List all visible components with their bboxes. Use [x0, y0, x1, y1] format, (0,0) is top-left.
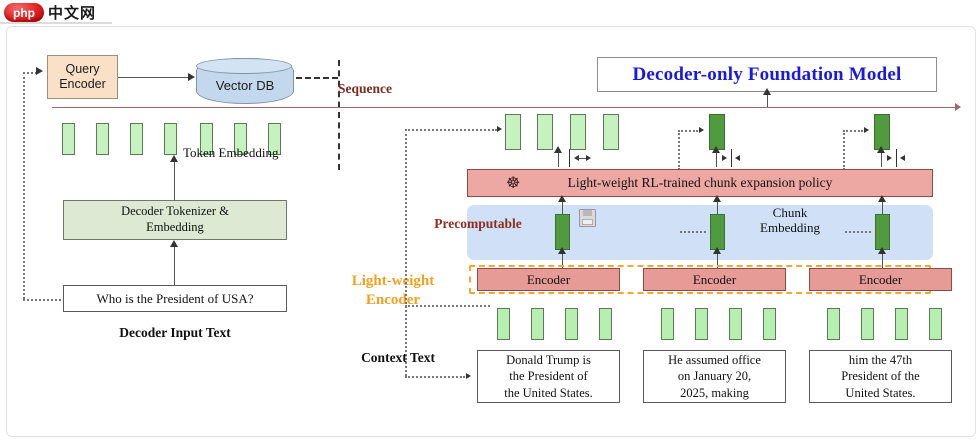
vectordb-trunk-dash-vertical — [338, 60, 340, 170]
chunk-feed-dotted-3 — [843, 130, 845, 170]
decoder-input-caption: Decoder Input Text — [63, 325, 287, 341]
chunk-embedding-block — [875, 214, 890, 250]
rl-policy-label: Light-weight RL-trained chunk expansion … — [568, 175, 833, 191]
tokenizer-label-line1: Decoder Tokenizer & — [121, 204, 229, 220]
foundation-model-label: Decoder-only Foundation Model — [633, 64, 902, 86]
chunk-embedding-line1: Chunk — [735, 206, 845, 221]
sequence-to-foundation-arrowhead — [763, 88, 771, 95]
query-encoder-label-line2: Encoder — [59, 77, 106, 92]
sequence-token-block — [603, 114, 619, 150]
query-to-vectordb-line — [118, 77, 188, 78]
encoder-box-3[interactable]: Encoder — [809, 268, 952, 291]
encoder-label-2: Encoder — [693, 272, 736, 288]
sequence-token-block — [505, 114, 521, 150]
sequence-token-block — [537, 114, 553, 150]
chunk-feed-dotted-h-2 — [678, 130, 698, 132]
php-logo-icon: php — [4, 3, 44, 22]
context-line: United States. — [841, 385, 919, 402]
tokenizer-to-tokens-arrowhead — [170, 155, 178, 162]
context-line: him the 47th — [841, 352, 919, 369]
context-text-box-2[interactable]: He assumed office on January 20, 2025, m… — [643, 350, 786, 403]
chunk-to-policy-arrowhead-1 — [558, 195, 566, 202]
tokenizer-label-line2: Embedding — [121, 220, 229, 236]
chunk-to-policy-line-2 — [717, 200, 718, 214]
feedback-arrowhead — [36, 67, 43, 75]
watermark-text: 中文网 — [48, 2, 96, 23]
context-line: Donald Trump is — [504, 352, 593, 369]
token-block — [62, 123, 75, 155]
context-text-box-3[interactable]: him the 47th President of the United Sta… — [809, 350, 952, 403]
chunk-feed-arrowhead-2 — [699, 127, 704, 133]
query-to-vectordb-arrowhead — [188, 73, 195, 81]
feedback-dotted-line-vertical — [23, 72, 25, 299]
decoder-input-text-box[interactable]: Who is the President of USA? — [63, 285, 287, 312]
chunk-feed-dotted-h-3 — [843, 130, 863, 132]
chunk-embedding-label: Chunk Embedding — [735, 206, 845, 236]
rl-policy-icon: ☸ — [506, 174, 520, 194]
light-weight-encoder-label: Light-weight Encoder — [330, 272, 456, 310]
sequence-chunk-block — [709, 114, 725, 150]
token-block — [164, 123, 177, 155]
precomputable-label: Precomputable — [418, 216, 538, 232]
chunk-to-policy-line-1 — [562, 200, 563, 214]
token-embedding-label: Token Embedding — [183, 145, 279, 161]
sequence-to-foundation-line — [767, 93, 768, 107]
sequence-token-block — [570, 114, 586, 150]
context-text-box-1[interactable]: Donald Trump is the President of the Uni… — [477, 350, 620, 403]
sequence-line-arrowhead — [955, 103, 961, 111]
query-encoder-box[interactable]: Query Encoder — [47, 55, 118, 99]
foundation-model-box[interactable]: Decoder-only Foundation Model — [597, 57, 937, 92]
rl-policy-bar[interactable]: ☸ Light-weight RL-trained chunk expansio… — [467, 169, 933, 197]
chunk-embedding-line2: Embedding — [735, 221, 845, 236]
vectordb-to-trunk-dash — [296, 77, 338, 79]
chunk-feed-arrowhead-3 — [864, 127, 869, 133]
encoder-to-chunk-arrowhead-2 — [713, 247, 721, 254]
context-line: 2025, making — [668, 385, 761, 402]
chunk-feed-dotted-2 — [678, 130, 680, 170]
chunk-embedding-block — [710, 214, 725, 250]
query-encoder-label-line1: Query — [59, 62, 106, 77]
diagram-root: php 中文网 Query Encoder Vector DB Sequence — [0, 0, 980, 441]
context-line: on January 20, — [668, 368, 761, 385]
lwe-line1: Light-weight — [330, 272, 456, 291]
sequence-chunk-block — [874, 114, 890, 150]
chunk-dots-3 — [845, 231, 871, 233]
context-line: the United States. — [504, 385, 593, 402]
encoder-box-2[interactable]: Encoder — [643, 268, 786, 291]
vector-db-cylinder[interactable]: Vector DB — [196, 58, 294, 104]
input-to-tokenizer-line — [174, 245, 175, 285]
sequence-line-left — [52, 107, 957, 108]
encoder-to-chunk-arrowhead-1 — [558, 247, 566, 254]
tokenizer-to-tokens-line — [174, 160, 175, 200]
context-line: He assumed office — [668, 352, 761, 369]
context-feed-dotted-horizontal — [405, 376, 465, 378]
encoder-label-3: Encoder — [859, 272, 902, 288]
context-feed-dotted-vertical — [405, 129, 407, 376]
decoder-tokenizer-box[interactable]: Decoder Tokenizer & Embedding — [63, 200, 287, 240]
chunk-to-policy-arrowhead-2 — [713, 195, 721, 202]
retrieval-feed-arrowhead-1 — [497, 126, 502, 132]
retrieval-dotted-feed-1 — [405, 129, 497, 131]
chunk-to-policy-arrowhead-3 — [878, 195, 886, 202]
token-block — [130, 123, 143, 155]
watermark: php 中文网 — [4, 2, 96, 23]
token-block — [96, 123, 109, 155]
sequence-label: Sequence — [338, 81, 392, 97]
encoder-group-dotted-feed — [405, 305, 490, 307]
context-feed-arrowhead — [466, 373, 471, 379]
chunk-embedding-block — [555, 214, 570, 250]
chunk-to-policy-line-3 — [882, 200, 883, 214]
decoder-input-text-value: Who is the President of USA? — [96, 291, 253, 307]
input-to-tokenizer-arrowhead — [170, 240, 178, 247]
watermark-underline — [0, 22, 112, 24]
chunk-dots-2 — [680, 231, 706, 233]
floppy-disk-icon — [579, 209, 596, 227]
feedback-dotted-line-to-encoder — [23, 72, 37, 74]
vector-db-label: Vector DB — [216, 78, 275, 93]
feedback-dotted-line-horizontal — [23, 299, 65, 301]
context-line: the President of — [504, 368, 593, 385]
context-line: President of the — [841, 368, 919, 385]
encoder-box-1[interactable]: Encoder — [477, 268, 620, 291]
encoder-to-chunk-arrowhead-3 — [878, 247, 886, 254]
context-text-label: Context Text — [340, 350, 456, 366]
encoder-label-1: Encoder — [527, 272, 570, 288]
